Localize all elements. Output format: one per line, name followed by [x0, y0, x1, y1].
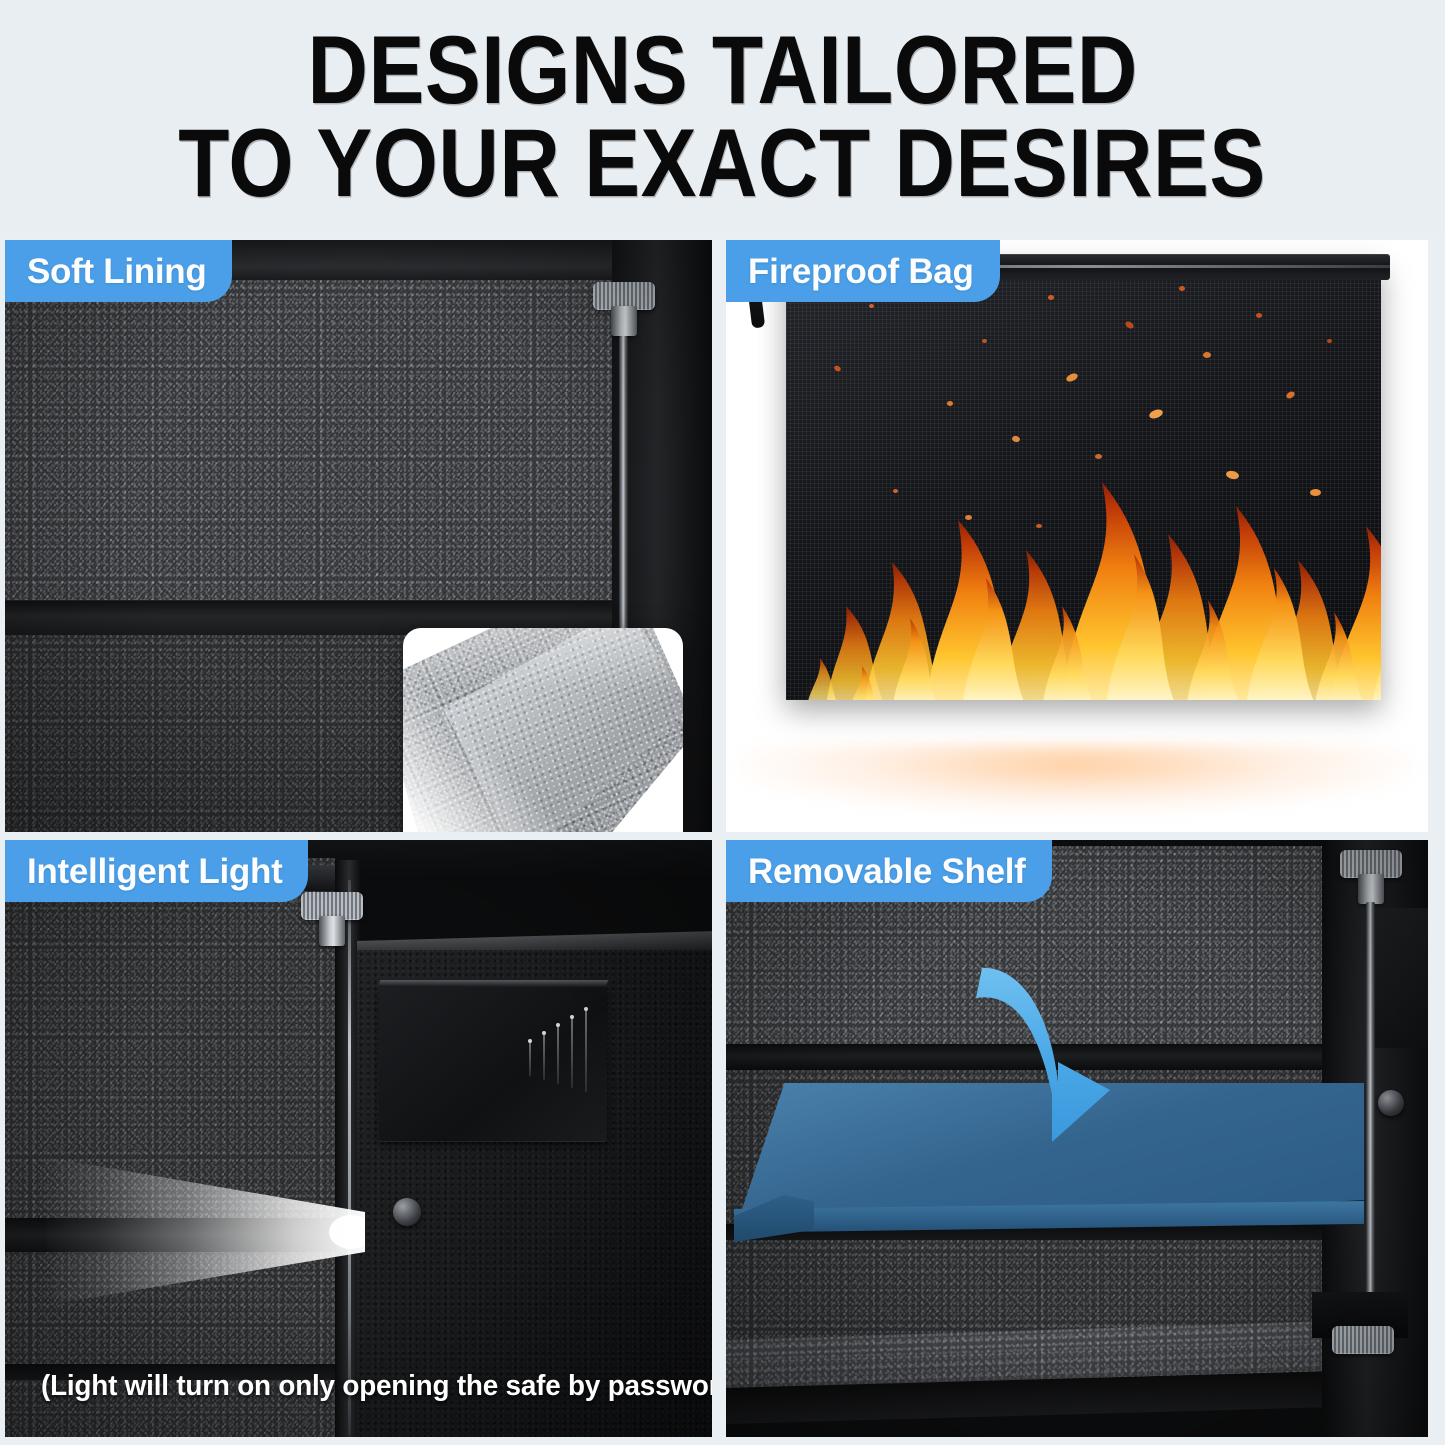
bolt-stem-top-icon [611, 306, 637, 336]
badge-label-soft-lining: Soft Lining [27, 254, 206, 289]
panel-removable-shelf: Removable Shelf [726, 840, 1428, 1437]
badge-removable-shelf[interactable]: Removable Shelf [726, 840, 1052, 902]
shelf-door-panel [1366, 908, 1428, 1048]
felt-wall-upper [5, 280, 645, 610]
panel-fireproof-bag: Fireproof Bag [726, 240, 1428, 832]
felt-wall-left [5, 858, 335, 1437]
removable-shelf-arrow-icon [974, 962, 1134, 1152]
door-vent-panel [379, 986, 607, 1142]
shelf-hinge-rod [1366, 902, 1375, 1322]
badge-label-removable-shelf: Removable Shelf [748, 854, 1026, 889]
flame-graphic [806, 410, 1381, 700]
light-caption: (Light will turn on only opening the saf… [41, 1370, 712, 1403]
badge-intelligent-light[interactable]: Intelligent Light [5, 840, 308, 902]
door-lock-knob-icon [393, 1198, 421, 1226]
headline-banner: DESIGNS TAILORED TO YOUR EXACT DESIRES [0, 0, 1445, 232]
badge-label-fireproof-bag: Fireproof Bag [748, 254, 974, 289]
wall-band-1 [5, 1218, 335, 1252]
panel-intelligent-light: (Light will turn on only opening the saf… [5, 840, 712, 1437]
badge-label-intelligent-light: Intelligent Light [27, 854, 282, 889]
panel-soft-lining: Soft Lining [5, 240, 712, 832]
headline-line-1: DESIGNS TAILORED [307, 24, 1137, 116]
fireproof-bag-body [786, 260, 1381, 700]
feature-grid: Soft Lining [0, 232, 1445, 1445]
badge-fireproof-bag[interactable]: Fireproof Bag [726, 240, 1000, 302]
badge-soft-lining[interactable]: Soft Lining [5, 240, 232, 302]
ember-sparks [786, 260, 1381, 700]
fire-floor-glow [736, 744, 1416, 814]
shelf-bolt-cap-bottom-icon [1332, 1326, 1394, 1354]
headline-line-2: TO YOUR EXACT DESIRES [179, 117, 1267, 209]
door-jamb-highlight [348, 880, 351, 1435]
bolt-stem-light-panel-icon [319, 916, 345, 946]
shelf-door-knob-icon [1378, 1090, 1404, 1116]
felt-swatch-inset-card [403, 628, 683, 832]
shelf-bolt-stem-top-icon [1358, 874, 1384, 904]
